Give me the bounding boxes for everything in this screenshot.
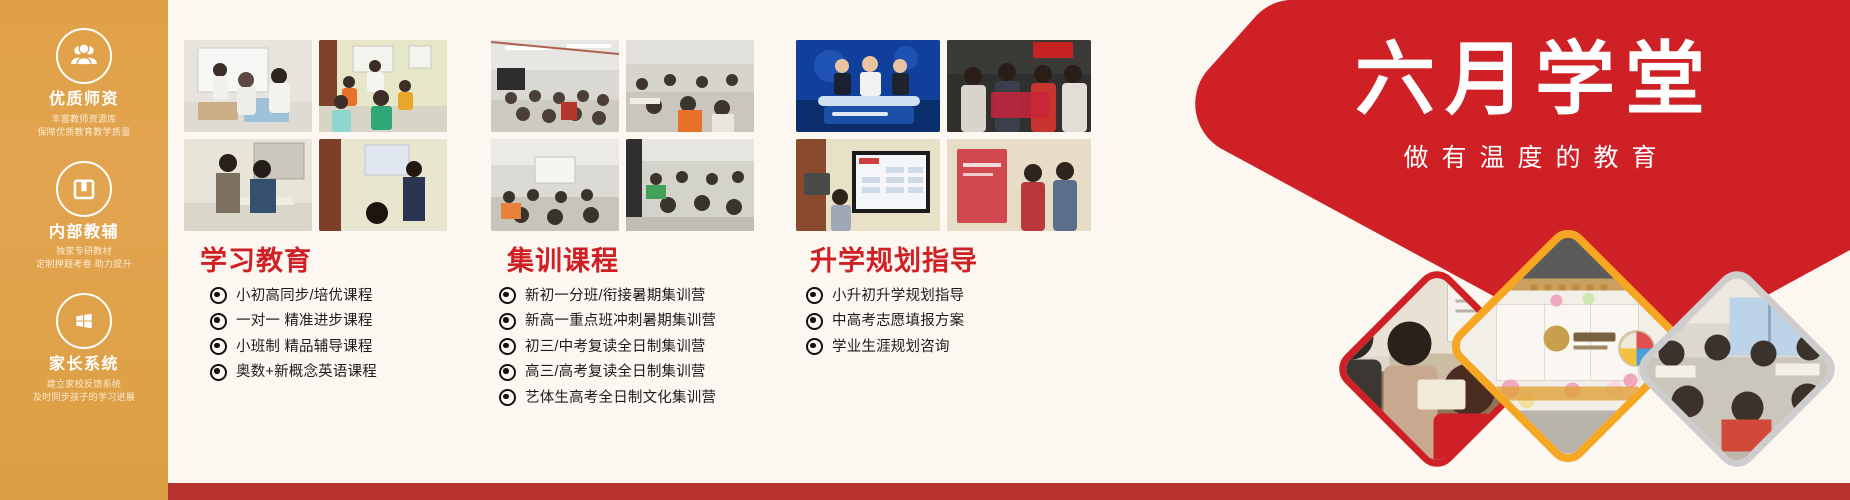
brand-block: 六月学堂 做有温度的教育 [1250,38,1810,174]
feature-item-materials: 内部教辅 独家专研教材 定制押题考卷 助力提升 [0,161,168,272]
feature-subtitle-line2: 及时同步孩子的学习进展 [33,391,135,404]
bullet-icon [499,389,516,406]
windows-grid-icon [56,293,112,349]
list-item: 一对一 精准进步课程 [210,310,467,332]
course-column-intensive-training: 集训课程 新初一分班/衔接暑期集训营 新高一重点班冲刺暑期集训营 初三/中考复读… [491,40,774,425]
bullet-icon [210,364,227,381]
list-item-label: 艺体生高考全日制文化集训营 [525,387,716,409]
course-list: 新初一分班/衔接暑期集训营 新高一重点班冲刺暑期集训营 初三/中考复读全日制集训… [499,285,774,409]
feature-subtitle-line2: 保障优质教育教学质量 [37,126,130,139]
diamond-gallery [1362,248,1832,478]
course-list: 小升初升学规划指导 中高考志愿填报方案 学业生涯规划咨询 [806,285,1101,358]
open-book-icon [56,161,112,217]
section-title: 学习教育 [200,247,467,277]
teacher-projector-presentation-photo [319,139,447,231]
list-item-label: 初三/中考复读全日制集训营 [525,336,706,358]
bullet-icon [499,313,516,330]
list-item: 中高考志愿填报方案 [806,310,1101,332]
teacher-helping-student-photo [184,139,312,231]
section-title: 升学规划指导 [810,247,1101,277]
course-list: 小初高同步/培优课程 一对一 精准进步课程 小班制 精品辅导课程 奥数+新概念英… [210,285,467,384]
course-columns: 学习教育 小初高同步/培优课程 一对一 精准进步课程 小班制 精品辅导课程 奥数… [184,40,1101,425]
list-item: 小升初升学规划指导 [806,285,1101,307]
list-item-label: 奥数+新概念英语课程 [236,361,377,383]
bullet-icon [806,287,823,304]
bullet-icon [210,338,227,355]
feature-subtitle-line1: 建立家校反馈系统 [33,378,135,391]
list-item-label: 中高考志愿填报方案 [832,310,964,332]
course-column-study-education: 学习教育 小初高同步/培优课程 一对一 精准进步课程 小班制 精品辅导课程 奥数… [184,40,467,425]
bullet-icon [806,313,823,330]
list-item-label: 新高一重点班冲刺暑期集训营 [525,310,716,332]
list-item-label: 小升初升学规划指导 [832,285,964,307]
bottom-red-strip [168,483,1850,500]
photo-grid [491,40,774,231]
list-item: 奥数+新概念英语课程 [210,361,467,383]
list-item: 学业生涯规划咨询 [806,336,1101,358]
list-item-label: 小班制 精品辅导课程 [236,336,373,358]
photo-grid [184,40,467,231]
diamond-image-inner [1641,273,1833,465]
feature-title: 优质师资 [49,91,119,109]
stage-event-photo [947,139,1091,231]
list-item-label: 小初高同步/培优课程 [236,285,373,307]
list-item: 艺体生高考全日制文化集训营 [499,387,774,409]
students-rows-desks-photo [626,40,754,132]
list-item: 新高一重点班冲刺暑期集训营 [499,310,774,332]
feature-subtitle: 丰富教师资源库 保障优质教育教学质量 [37,113,130,139]
list-item-label: 一对一 精准进步课程 [236,310,373,332]
bullet-icon [210,313,227,330]
smart-board-demo-photo [796,139,940,231]
classroom-children-desks-photo [319,40,447,132]
feature-item-parent-system: 家长系统 建立家校反馈系统 及时同步孩子的学习进展 [0,293,168,404]
feature-subtitle: 独家专研教材 定制押题考卷 助力提升 [36,245,132,271]
bullet-icon [499,338,516,355]
feature-subtitle-line2: 定制押题考卷 助力提升 [36,258,132,271]
feature-subtitle: 建立家校反馈系统 及时同步孩子的学习进展 [33,378,135,404]
course-column-enrollment-planning: 升学规划指导 小升初升学规划指导 中高考志愿填报方案 学业生涯规划咨询 [796,40,1101,425]
award-ceremony-banner-photo [947,40,1091,132]
bullet-icon [210,287,227,304]
bright-classroom-photo [1631,263,1843,475]
lecture-room-projector-photo [491,139,619,231]
diamond-image-inner [1455,233,1681,459]
people-group-icon [56,28,112,84]
feature-item-teachers: 优质师资 丰富教师资源库 保障优质教育教学质量 [0,28,168,139]
main-content: 学习教育 小初高同步/培优课程 一对一 精准进步课程 小班制 精品辅导课程 奥数… [168,0,1850,500]
bullet-icon [499,364,516,381]
promo-banner: 优质师资 丰富教师资源库 保障优质教育教学质量 内部教辅 独家专研教材 定制押题… [0,0,1850,500]
crowded-study-hall-photo [626,139,754,231]
brand-slogan: 做有温度的教育 [1250,138,1810,174]
list-item: 小初高同步/培优课程 [210,285,467,307]
feature-title: 内部教辅 [49,224,119,242]
list-item: 高三/高考复读全日制集训营 [499,361,774,383]
feature-subtitle-line1: 独家专研教材 [36,245,132,258]
large-lecture-hall-photo [491,40,619,132]
feature-subtitle-line1: 丰富教师资源库 [37,113,130,126]
list-item-label: 新初一分班/衔接暑期集训营 [525,285,706,307]
features-sidebar: 优质师资 丰富教师资源库 保障优质教育教学质量 内部教辅 独家专研教材 定制押题… [0,0,168,500]
section-title: 集训课程 [507,247,774,277]
feature-title: 家长系统 [49,356,119,374]
list-item: 新初一分班/衔接暑期集训营 [499,285,774,307]
list-item: 小班制 精品辅导课程 [210,336,467,358]
bullet-icon [499,287,516,304]
brand-name: 六月学堂 [1250,38,1810,122]
tv-studio-interview-photo [796,40,940,132]
list-item-label: 学业生涯规划咨询 [832,336,950,358]
list-item-label: 高三/高考复读全日制集训营 [525,361,706,383]
list-item: 初三/中考复读全日制集训营 [499,336,774,358]
classroom-whiteboard-photo [184,40,312,132]
bullet-icon [806,338,823,355]
photo-grid [796,40,1101,231]
